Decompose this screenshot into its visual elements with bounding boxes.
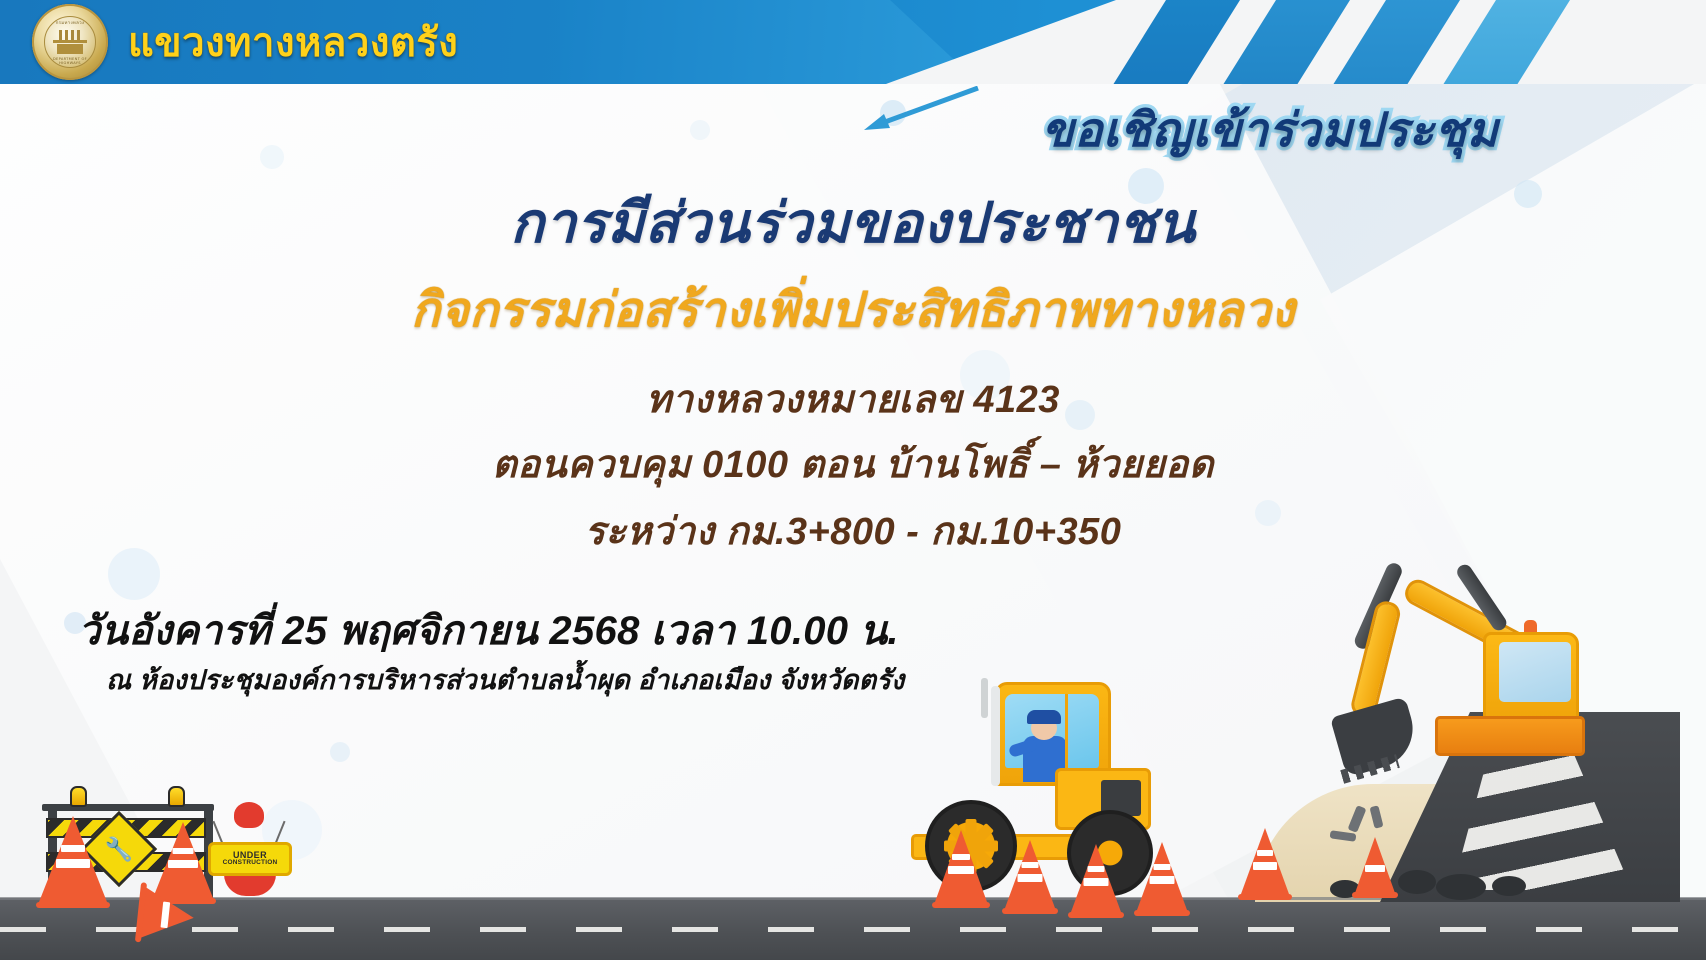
project-detail-line: ระหว่าง กม.3+800 - กม.10+350 xyxy=(0,500,1706,561)
meeting-date-line: วันอังคารที่ 25 พฤศจิกายน 2568 เวลา 10.0… xyxy=(78,598,899,662)
page-title: การมีส่วนร่วมของประชาชน xyxy=(0,178,1706,267)
page-subtitle: กิจกรรมก่อสร้างเพิ่มประสิทธิภาพทางหลวง xyxy=(0,272,1706,348)
project-detail-line: ทางหลวงหมายเลข 4123 xyxy=(0,368,1706,429)
traffic-cone-icon xyxy=(1238,828,1292,900)
poster-canvas: กรมทางหลวง DEPARTMENT OF HIGHWAYS แขวงทา… xyxy=(0,0,1706,960)
invitation-banner: ขอเชิญเข้าร่วมประชุม xyxy=(960,92,1580,167)
poster-content: ขอเชิญเข้าร่วมประชุม การมีส่วนร่วมของประ… xyxy=(0,0,1706,960)
project-detail-line: ตอนควบคุม 0100 ตอน บ้านโพธิ์ – ห้วยยอด xyxy=(0,433,1706,494)
traffic-cone-icon xyxy=(1352,836,1398,898)
meeting-venue-line: ณ ห้องประชุมองค์การบริหารส่วนตำบลน้ำผุด … xyxy=(106,658,904,701)
